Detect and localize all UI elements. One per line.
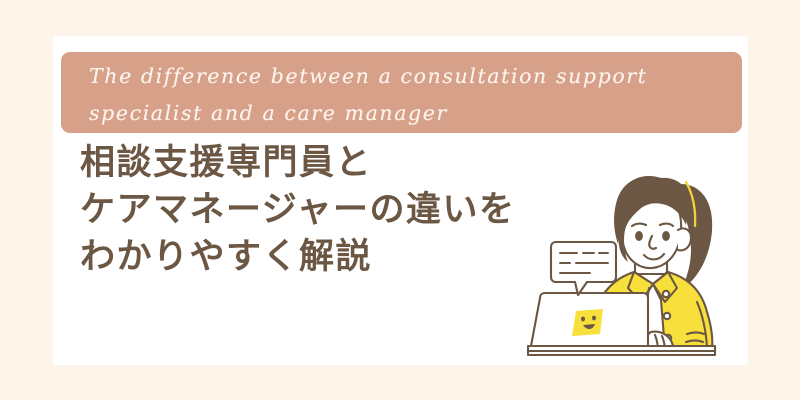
laptop-sticker-icon	[572, 309, 603, 336]
jacket-button-1-icon	[663, 291, 669, 297]
eye-left-icon	[635, 231, 643, 241]
ear-icon	[678, 228, 691, 250]
page-title-line-3: わかりやすく解説	[80, 234, 516, 281]
page-title: 相談支援専門員と ケアマネージャーの違いを わかりやすく解説	[80, 140, 516, 281]
speech-bubble	[551, 242, 616, 295]
eyebrow-banner-line-1: The difference between a consultation su…	[89, 58, 742, 95]
jacket-button-2-icon	[664, 313, 670, 319]
page-title-line-1: 相談支援専門員と	[80, 140, 516, 187]
woman-at-laptop-illustration	[515, 160, 765, 365]
thumbnail-canvas: The difference between a consultation su…	[0, 0, 800, 400]
sticker-eye-left-icon	[581, 317, 585, 322]
eye-right-icon	[662, 231, 670, 241]
sticker-eye-right-icon	[592, 316, 596, 321]
eyebrow-banner: The difference between a consultation su…	[61, 52, 742, 133]
page-title-line-2: ケアマネージャーの違いを	[80, 187, 516, 234]
eyebrow-banner-line-2: specialist and a care manager	[89, 95, 742, 132]
